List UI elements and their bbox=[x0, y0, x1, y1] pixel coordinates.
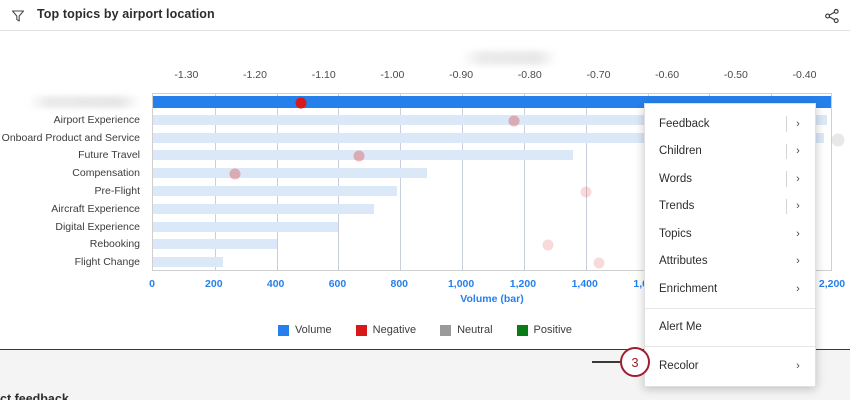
menu-divider bbox=[645, 346, 815, 347]
bottom-axis-tick: 1,400 bbox=[572, 278, 598, 290]
menu-item-topics[interactable]: Topics› bbox=[645, 220, 815, 248]
redacted-top-label bbox=[462, 51, 557, 65]
menu-divider bbox=[645, 308, 815, 309]
chevron-right-icon: › bbox=[793, 360, 803, 372]
legend-swatch bbox=[356, 325, 367, 336]
bottom-axis-tick: 400 bbox=[267, 278, 285, 290]
menu-item-label: Trends bbox=[659, 200, 793, 212]
y-axis-label: Compensation bbox=[72, 167, 140, 179]
legend-item[interactable]: Positive bbox=[517, 324, 573, 336]
legend-label: Volume bbox=[295, 324, 332, 336]
volume-bar[interactable] bbox=[153, 204, 374, 214]
menu-item-label: Feedback bbox=[659, 118, 793, 130]
top-axis-tick: -0.60 bbox=[655, 69, 679, 81]
filter-funnel-icon[interactable] bbox=[10, 8, 26, 24]
top-axis-tick: -0.90 bbox=[449, 69, 473, 81]
legend-swatch bbox=[440, 325, 451, 336]
sentiment-dot-negative[interactable] bbox=[594, 258, 605, 269]
sentiment-dot-neutral-offscreen bbox=[832, 134, 845, 147]
top-axis-tick: -1.10 bbox=[312, 69, 336, 81]
secondary-x-axis-top: -1.30-1.20-1.10-1.00-0.90-0.80-0.70-0.60… bbox=[0, 69, 850, 83]
bottom-axis-tick: 600 bbox=[329, 278, 347, 290]
dashboard-panel: Top topics by airport location -1.30-1.2… bbox=[0, 0, 850, 400]
menu-item-label: Children bbox=[659, 145, 793, 157]
volume-bar[interactable] bbox=[153, 222, 338, 232]
y-axis-label: Onboard Product and Service bbox=[2, 132, 140, 144]
y-axis-label: Flight Change bbox=[75, 256, 140, 268]
menu-item-attributes[interactable]: Attributes› bbox=[645, 248, 815, 276]
sentiment-dot-negative[interactable] bbox=[295, 97, 306, 108]
bottom-axis-tick: 1,200 bbox=[510, 278, 536, 290]
menu-item-trends[interactable]: Trends› bbox=[645, 193, 815, 221]
legend-item[interactable]: Negative bbox=[356, 324, 416, 336]
bottom-axis-tick: 800 bbox=[391, 278, 409, 290]
chevron-right-icon: › bbox=[793, 228, 803, 240]
menu-item-separator bbox=[786, 171, 787, 187]
menu-item-feedback[interactable]: Feedback› bbox=[645, 110, 815, 138]
x-axis-title: Volume (bar) bbox=[460, 293, 523, 305]
volume-bar[interactable] bbox=[153, 257, 223, 267]
legend-label: Neutral bbox=[457, 324, 492, 336]
volume-bar[interactable] bbox=[153, 168, 427, 178]
panel-header: Top topics by airport location bbox=[0, 0, 850, 31]
chevron-right-icon: › bbox=[793, 145, 803, 157]
y-axis-label: Rebooking bbox=[90, 238, 140, 250]
bottom-axis-tick: 200 bbox=[205, 278, 223, 290]
context-menu[interactable]: Feedback›Children›Words›Trends›Topics›At… bbox=[644, 103, 816, 387]
menu-item-label: Attributes bbox=[659, 255, 793, 267]
menu-item-separator bbox=[786, 199, 787, 215]
legend-label: Positive bbox=[534, 324, 573, 336]
sentiment-dot-negative[interactable] bbox=[230, 169, 241, 180]
top-axis-tick: -1.30 bbox=[174, 69, 198, 81]
y-label-redacted bbox=[28, 96, 140, 108]
share-icon[interactable] bbox=[824, 8, 840, 24]
top-axis-tick: -0.50 bbox=[724, 69, 748, 81]
top-axis-tick: -0.70 bbox=[586, 69, 610, 81]
callout-leader-line bbox=[592, 361, 622, 363]
menu-item-label: Recolor bbox=[659, 360, 793, 372]
chevron-right-icon: › bbox=[793, 173, 803, 185]
menu-item-label: Enrichment bbox=[659, 283, 793, 295]
y-axis-category-labels: Airport ExperienceOnboard Product and Se… bbox=[0, 93, 148, 271]
y-axis-label: Future Travel bbox=[78, 149, 140, 161]
legend-item[interactable]: Neutral bbox=[440, 324, 492, 336]
legend-swatch bbox=[517, 325, 528, 336]
chevron-right-icon: › bbox=[793, 283, 803, 295]
menu-item-separator bbox=[786, 116, 787, 132]
chevron-right-icon: › bbox=[793, 200, 803, 212]
y-axis-label: Digital Experience bbox=[55, 221, 140, 233]
menu-item-label: Alert Me bbox=[659, 321, 803, 333]
callout-number: 3 bbox=[631, 355, 638, 370]
top-axis-tick: -0.80 bbox=[518, 69, 542, 81]
legend-swatch bbox=[278, 325, 289, 336]
chevron-right-icon: › bbox=[793, 118, 803, 130]
page-title: Top topics by airport location bbox=[37, 7, 215, 21]
legend-label: Negative bbox=[373, 324, 416, 336]
volume-bar[interactable] bbox=[153, 186, 397, 196]
sentiment-dot-negative[interactable] bbox=[508, 115, 519, 126]
sentiment-dot-negative[interactable] bbox=[354, 151, 365, 162]
top-axis-tick: -1.20 bbox=[243, 69, 267, 81]
menu-item-label: Words bbox=[659, 173, 793, 185]
sentiment-dot-negative[interactable] bbox=[542, 240, 553, 251]
sentiment-dot-negative[interactable] bbox=[580, 186, 591, 197]
bottom-axis-tick: 2,200 bbox=[819, 278, 845, 290]
top-axis-tick: -1.00 bbox=[380, 69, 404, 81]
volume-bar[interactable] bbox=[153, 239, 277, 249]
y-axis-label: Aircraft Experience bbox=[51, 203, 140, 215]
menu-item-alert-me[interactable]: Alert Me bbox=[645, 314, 815, 342]
footer-heading: ct feedback bbox=[0, 392, 69, 400]
menu-item-separator bbox=[786, 144, 787, 160]
chevron-right-icon: › bbox=[793, 255, 803, 267]
menu-item-recolor[interactable]: Recolor› bbox=[645, 352, 815, 380]
callout-badge-3: 3 bbox=[620, 347, 650, 377]
bottom-axis-tick: 0 bbox=[149, 278, 155, 290]
menu-item-children[interactable]: Children› bbox=[645, 138, 815, 166]
bottom-axis-tick: 1,000 bbox=[448, 278, 474, 290]
y-axis-label: Airport Experience bbox=[54, 114, 140, 126]
y-axis-label: Pre-Flight bbox=[94, 185, 140, 197]
top-axis-tick: -0.40 bbox=[793, 69, 817, 81]
legend-item[interactable]: Volume bbox=[278, 324, 332, 336]
menu-item-enrichment[interactable]: Enrichment› bbox=[645, 275, 815, 303]
menu-item-words[interactable]: Words› bbox=[645, 165, 815, 193]
menu-item-label: Topics bbox=[659, 228, 793, 240]
